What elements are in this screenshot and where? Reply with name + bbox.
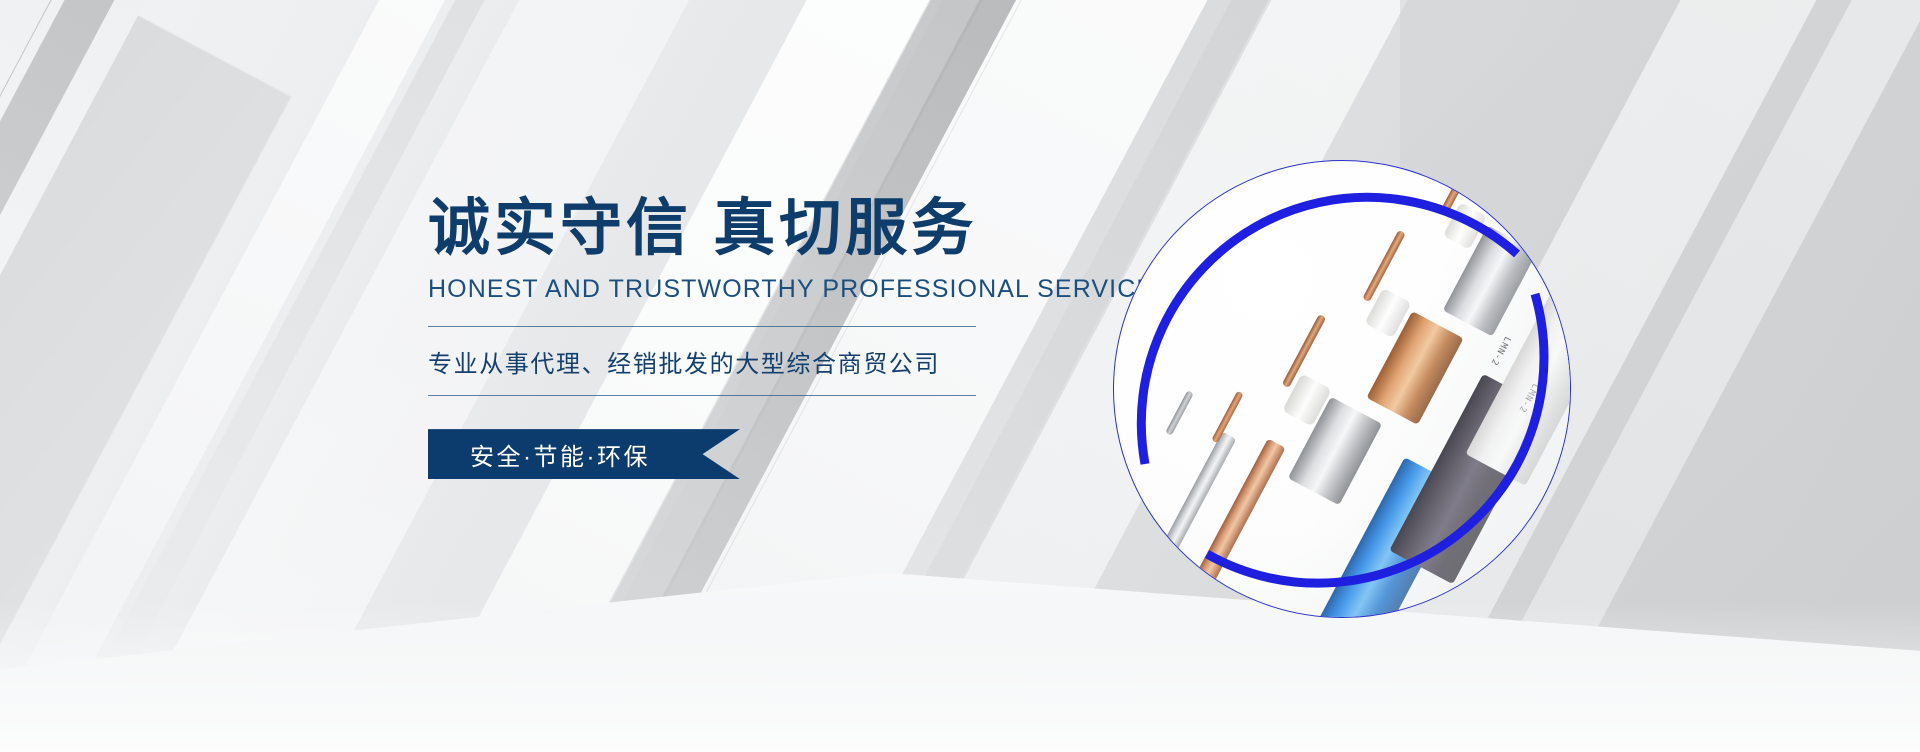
bg-panel-wedge-c — [0, 0, 267, 752]
divider-line-top — [428, 326, 976, 327]
divider-line-bottom — [428, 395, 976, 396]
hero-headline: 诚实守信 真切服务 — [428, 196, 1068, 261]
bg-panel-wedge-d — [0, 0, 279, 752]
decorative-ring-icon — [1087, 134, 1597, 644]
hero-banner: 诚实守信 真切服务 HONEST AND TRUSTWORTHY PROFESS… — [0, 0, 1920, 752]
feature-ribbon-label: 安全·节能·环保 — [428, 437, 650, 472]
bg-floor-edge — [0, 522, 1920, 752]
hero-description: 专业从事代理、经销批发的大型综合商贸公司 — [428, 327, 1068, 395]
bg-floor-glow — [0, 602, 1920, 752]
product-image-circle: LMN-2 LMN-2 — [1113, 160, 1571, 618]
hero-subheadline: HONEST AND TRUSTWORTHY PROFESSIONAL SERV… — [428, 275, 1068, 304]
bg-hairline-1 — [0, 0, 211, 752]
feature-ribbon: 安全·节能·环保 — [428, 429, 740, 479]
hero-text-block: 诚实守信 真切服务 HONEST AND TRUSTWORTHY PROFESS… — [428, 196, 1068, 479]
bg-floor-plane — [0, 522, 1920, 752]
bg-panel-wedge-a — [0, 0, 291, 752]
